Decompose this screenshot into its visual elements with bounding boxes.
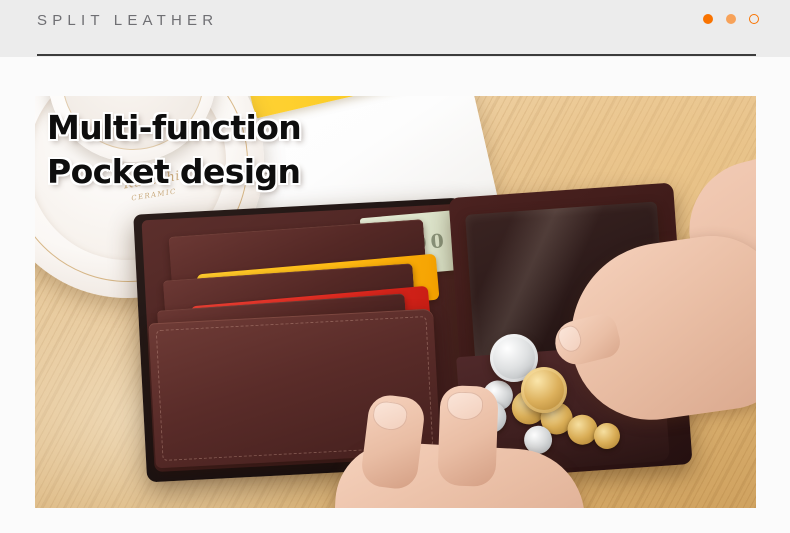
pager-dot-1[interactable] (703, 14, 713, 24)
coin-gold-3 (566, 414, 598, 446)
headline-line-2: Pocket design (47, 150, 301, 194)
pager-dot-3[interactable] (749, 14, 759, 24)
held-coin-gold (521, 367, 567, 413)
page-title: SPLIT LEATHER (37, 11, 218, 31)
page-header: SPLIT LEATHER (0, 0, 790, 57)
pager-dot-2[interactable] (726, 14, 736, 24)
headline-line-1: Multi-function (47, 106, 301, 150)
header-divider (37, 54, 756, 56)
product-photo: 12 Kabushi CERAMIC 100 (35, 96, 756, 508)
carousel-pager[interactable] (703, 14, 759, 24)
coin-gold-4 (593, 422, 621, 450)
product-banner-page: SPLIT LEATHER 12 Kabushi CERAMIC (0, 0, 790, 533)
banner-headline: Multi-function Pocket design (47, 106, 301, 194)
